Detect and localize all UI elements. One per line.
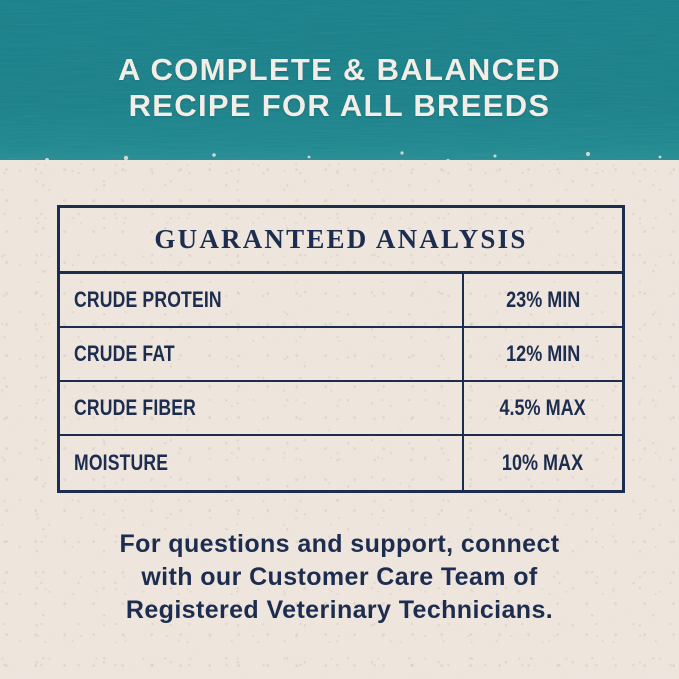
support-note-line-3: Registered Veterinary Technicians. xyxy=(40,594,639,627)
banner-title: A COMPLETE & BALANCED RECIPE FOR ALL BRE… xyxy=(0,52,679,124)
nutrient-label-cell: CRUDE PROTEIN xyxy=(60,274,464,326)
table-row: CRUDE FAT 12% MIN xyxy=(60,328,622,382)
nutrient-label: MOISTURE xyxy=(74,450,168,476)
banner-title-line-2: RECIPE FOR ALL BREEDS xyxy=(0,88,679,124)
banner-title-line-1: A COMPLETE & BALANCED xyxy=(0,52,679,88)
table-row: CRUDE PROTEIN 23% MIN xyxy=(60,274,622,328)
nutrient-label: CRUDE FAT xyxy=(74,341,175,367)
nutrient-value-cell: 10% MAX xyxy=(464,436,622,490)
guaranteed-analysis-table: GUARANTEED ANALYSIS CRUDE PROTEIN 23% MI… xyxy=(57,205,625,493)
table-heading-label: GUARANTEED ANALYSIS xyxy=(154,224,527,255)
customer-support-note: For questions and support, connect with … xyxy=(40,528,639,627)
table-row: CRUDE FIBER 4.5% MAX xyxy=(60,382,622,436)
nutrient-value: 4.5% MAX xyxy=(500,395,586,421)
support-note-line-2: with our Customer Care Team of xyxy=(40,561,639,594)
nutrient-value-cell: 4.5% MAX xyxy=(464,382,622,434)
nutrient-label-cell: CRUDE FIBER xyxy=(60,382,464,434)
nutrient-label: CRUDE FIBER xyxy=(74,395,196,421)
nutrient-value: 23% MIN xyxy=(506,287,580,313)
table-heading: GUARANTEED ANALYSIS xyxy=(60,208,622,274)
nutrient-value-cell: 12% MIN xyxy=(464,328,622,380)
product-info-panel: A COMPLETE & BALANCED RECIPE FOR ALL BRE… xyxy=(0,0,679,679)
nutrient-value: 12% MIN xyxy=(506,341,580,367)
teal-header-banner: A COMPLETE & BALANCED RECIPE FOR ALL BRE… xyxy=(0,0,679,188)
nutrient-label: CRUDE PROTEIN xyxy=(74,287,222,313)
nutrient-value: 10% MAX xyxy=(502,450,583,476)
nutrient-label-cell: MOISTURE xyxy=(60,436,464,490)
support-note-line-1: For questions and support, connect xyxy=(40,528,639,561)
nutrient-value-cell: 23% MIN xyxy=(464,274,622,326)
nutrient-label-cell: CRUDE FAT xyxy=(60,328,464,380)
table-row: MOISTURE 10% MAX xyxy=(60,436,622,490)
